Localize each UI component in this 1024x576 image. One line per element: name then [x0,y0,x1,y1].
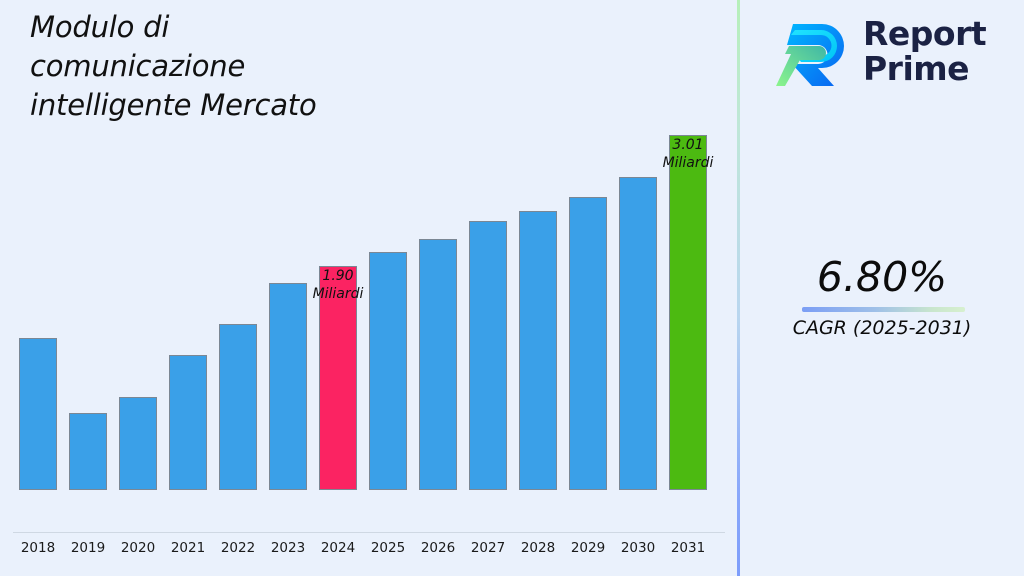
bar-2031[interactable] [669,135,707,490]
bar-2018[interactable] [19,338,57,490]
bar-2021[interactable] [169,355,207,490]
summary-panel: Report Prime 6.80% CAGR (2025-2031) [740,0,1024,576]
bar-label-2031: 3.01Miliardi [633,136,743,172]
bar-2029[interactable] [569,197,607,490]
bar-label-unit: Miliardi [633,154,743,172]
bar-chart: 1.90Miliardi3.01Miliardi 201820192020202… [0,0,738,576]
bar-2028[interactable] [519,211,557,490]
infographic-page: Modulo di comunicazione intelligente Mer… [0,0,1024,576]
bar-2027[interactable] [469,221,507,490]
cagr-value: 6.80% [740,255,1024,299]
chart-baseline [13,532,725,533]
brand-name: Report Prime [863,16,986,86]
cagr-divider [802,307,965,312]
bar-2030[interactable] [619,177,657,490]
cagr-caption: CAGR (2025-2031) [740,314,1024,342]
brand-name-line-1: Report [863,16,986,51]
brand-logo: Report Prime [775,14,1005,96]
report-prime-logo-mark-icon [775,16,853,94]
bar-2020[interactable] [119,397,157,490]
chart-plot-area: 1.90Miliardi3.01Miliardi [0,0,738,533]
chart-x-axis-labels: 2018201920202021202220232024202520262027… [0,540,738,568]
bar-2019[interactable] [69,413,107,490]
bar-2025[interactable] [369,252,407,490]
bar-2023[interactable] [269,283,307,490]
bar-2022[interactable] [219,324,257,490]
brand-name-line-2: Prime [863,51,986,86]
bar-2026[interactable] [419,239,457,490]
bar-label-value: 3.01 [633,136,743,154]
x-axis-label-2031: 2031 [658,540,718,556]
